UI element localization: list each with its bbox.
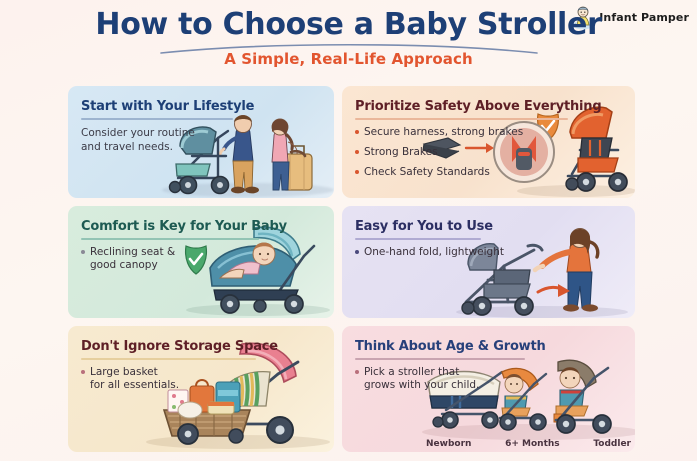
age-label-toddler: Toddler: [593, 439, 631, 449]
bullet-dot-icon: [355, 130, 359, 134]
heading-rule: [81, 238, 259, 240]
heading-rule: [355, 118, 568, 120]
bullet-item: Pick a stroller that grows with your chi…: [355, 366, 627, 392]
age-label-newborn: Newborn: [426, 439, 471, 449]
bullet-dot-icon: [355, 170, 359, 174]
page-subtitle: A Simple, Real-Life Approach: [0, 50, 697, 68]
card-heading: Easy for You to Use: [355, 219, 493, 235]
bullet-text: Check Safety Standards: [364, 166, 490, 179]
card-safety[interactable]: Prioritize Safety Above Everything Secur…: [342, 86, 635, 198]
age-labels: Newborn 6+ Months Toddler: [426, 439, 631, 449]
infographic-page: Infant Pamper How to Choose a Baby Strol…: [0, 0, 697, 461]
bullet-item: Secure harness, strong brakes: [355, 126, 627, 139]
card-body: Consider your routine and travel needs.: [81, 126, 326, 154]
cards-grid: Start with Your Lifestyle Consider your …: [68, 86, 635, 452]
bullet-text: Strong Brakes: [364, 146, 438, 159]
card-comfort[interactable]: Comfort is Key for Your Baby Reclining s…: [68, 206, 334, 318]
bullet-text: Secure harness, strong brakes: [364, 126, 523, 139]
bullet-item: Strong Brakes: [355, 146, 627, 159]
bullet-item: Reclining seat & good canopy: [81, 246, 326, 272]
card-heading: Think About Age & Growth: [355, 339, 546, 355]
heading-rule: [355, 238, 481, 240]
card-age-growth[interactable]: Think About Age & Growth Pick a stroller…: [342, 326, 635, 452]
bullet-item: Large basket for all essentials.: [81, 366, 326, 392]
bullet-dot-icon: [355, 250, 359, 254]
body-line: and travel needs.: [81, 140, 326, 154]
card-bullets: Pick a stroller that grows with your chi…: [355, 366, 627, 392]
bullet-text: Reclining seat & good canopy: [90, 246, 175, 272]
bullet-text: One-hand fold, lightweight: [364, 246, 504, 259]
bullet-item: One-hand fold, lightweight: [355, 246, 627, 259]
bullet-text: Large basket for all essentials.: [90, 366, 179, 392]
card-easy-use[interactable]: Easy for You to Use One-hand fold, light…: [342, 206, 635, 318]
heading-rule: [81, 118, 233, 120]
card-lifestyle[interactable]: Start with Your Lifestyle Consider your …: [68, 86, 334, 198]
bullet-item: Check Safety Standards: [355, 166, 627, 179]
heading-rule: [355, 358, 525, 360]
card-bullets: Large basket for all essentials.: [81, 366, 326, 392]
heading-rule: [81, 358, 256, 360]
card-heading: Comfort is Key for Your Baby: [81, 219, 287, 235]
body-line: Consider your routine: [81, 126, 326, 140]
bullet-dot-icon: [81, 250, 85, 254]
page-title: How to Choose a Baby Stroller: [0, 8, 697, 42]
bullet-dot-icon: [81, 370, 85, 374]
bullet-dot-icon: [355, 370, 359, 374]
card-storage[interactable]: Don't Ignore Storage Space Large basket …: [68, 326, 334, 452]
age-label-6-months: 6+ Months: [505, 439, 560, 449]
card-bullets: One-hand fold, lightweight: [355, 246, 627, 259]
bullet-text: Pick a stroller that grows with your chi…: [364, 366, 479, 392]
card-bullets: Reclining seat & good canopy: [81, 246, 326, 272]
card-heading: Start with Your Lifestyle: [81, 99, 254, 115]
card-heading: Prioritize Safety Above Everything: [355, 99, 601, 115]
card-bullets: Secure harness, strong brakes Strong Bra…: [355, 126, 627, 179]
card-heading: Don't Ignore Storage Space: [81, 339, 278, 355]
bullet-dot-icon: [355, 150, 359, 154]
